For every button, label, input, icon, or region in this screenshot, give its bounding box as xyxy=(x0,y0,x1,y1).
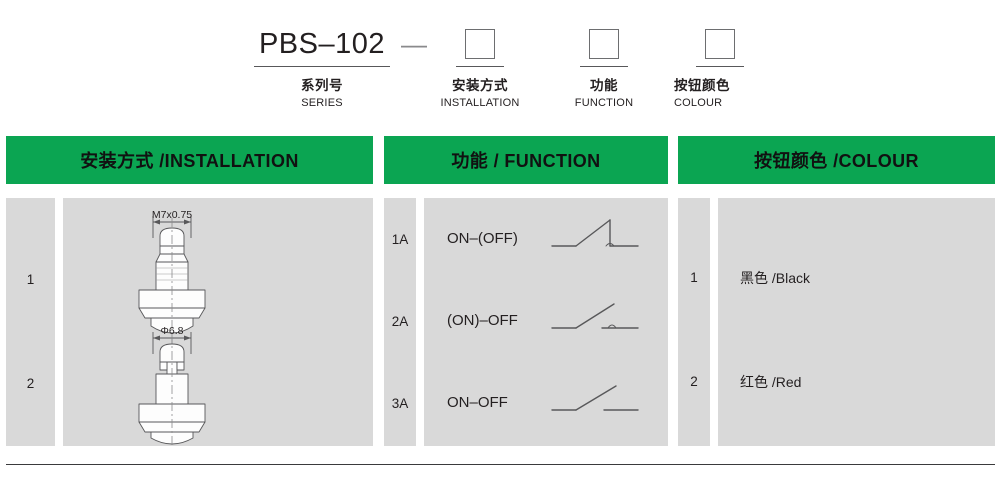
function-box-wrap xyxy=(552,22,656,66)
coding-group-function: 功能 FUNCTION xyxy=(552,22,656,109)
installation-underline xyxy=(456,66,504,67)
coding-label-en-function: FUNCTION xyxy=(552,97,656,109)
function-detail-panel: ON–(OFF) (ON)–OFF ON–OFF xyxy=(424,198,668,446)
momentary-nc-switch-symbol xyxy=(552,220,638,246)
latching-spst-switch-symbol xyxy=(552,386,638,410)
installation-dimension-2-text: Φ6.8 xyxy=(161,325,184,337)
colour-box-wrap xyxy=(668,22,772,66)
installation-code-box[interactable] xyxy=(465,29,495,59)
function-code-box[interactable] xyxy=(589,29,619,59)
series-underline xyxy=(254,66,390,67)
coding-label-en-series: SERIES xyxy=(243,97,401,109)
function-code-2a: 2A xyxy=(384,314,416,329)
colour-detail-panel: 黑色 /Black 红色 /Red xyxy=(718,198,995,446)
coding-label-cn-colour: 按钮颜色 xyxy=(668,74,772,94)
section-header-installation-label: 安装方式 /INSTALLATION xyxy=(80,147,299,173)
installation-index-2: 2 xyxy=(6,376,55,391)
series-value: PBS–102 xyxy=(259,30,385,59)
installation-index-1: 1 xyxy=(6,272,55,287)
section-header-function: 功能 / FUNCTION xyxy=(384,136,668,184)
function-symbols-svg xyxy=(424,198,668,446)
section-header-installation: 安装方式 /INSTALLATION xyxy=(6,136,373,184)
colour-index-1: 1 xyxy=(678,270,710,285)
function-code-3a: 3A xyxy=(384,396,416,411)
series-value-wrap: PBS–102 xyxy=(243,22,401,66)
function-index-panel: 1A 2A 3A xyxy=(384,198,416,446)
colour-label-red: 红色 /Red xyxy=(740,372,801,392)
section-header-colour: 按钮颜色 /COLOUR xyxy=(678,136,995,184)
function-underline xyxy=(580,66,628,67)
coding-label-en-installation: INSTALLATION xyxy=(421,97,539,109)
section-header-colour-label: 按钮颜色 /COLOUR xyxy=(754,147,919,173)
installation-dimension-1-text: M7x0.75 xyxy=(152,209,192,221)
colour-code-box[interactable] xyxy=(705,29,735,59)
coding-group-colour: 按钮颜色 COLOUR xyxy=(668,22,772,109)
colour-index-2: 2 xyxy=(678,374,710,389)
momentary-no-switch-symbol xyxy=(552,304,638,328)
installation-box-wrap xyxy=(421,22,539,66)
function-code-1a: 1A xyxy=(384,232,416,247)
installation-drawing-panel: M7x0.75 Φ6.8 xyxy=(63,198,373,446)
coding-label-cn-series: 系列号 xyxy=(243,74,401,94)
coding-label-cn-installation: 安装方式 xyxy=(421,74,539,94)
colour-index-panel: 1 2 xyxy=(678,198,710,446)
colour-underline xyxy=(696,66,744,67)
coding-group-installation: 安装方式 INSTALLATION xyxy=(421,22,539,109)
installation-index-panel: 1 2 xyxy=(6,198,55,446)
part-number-coding-header: PBS–102 系列号 SERIES — 安装方式 INSTALLATION 功… xyxy=(0,0,1001,122)
installation-drawings-svg: M7x0.75 Φ6.8 xyxy=(63,198,373,446)
coding-label-cn-function: 功能 xyxy=(552,74,656,94)
bottom-divider-rule xyxy=(6,464,995,465)
section-header-function-label: 功能 / FUNCTION xyxy=(451,147,600,173)
coding-group-series: PBS–102 系列号 SERIES xyxy=(243,22,401,109)
coding-label-en-colour: COLOUR xyxy=(668,97,772,109)
colour-label-black: 黑色 /Black xyxy=(740,268,810,288)
